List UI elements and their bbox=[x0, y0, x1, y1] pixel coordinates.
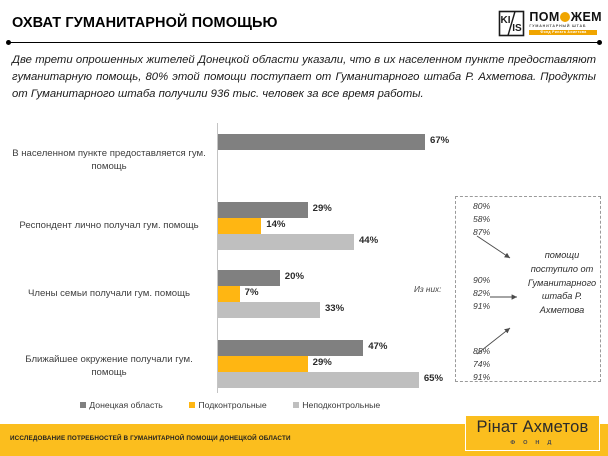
pomozhem-wordmark: ПОМ ЖЕМ ГУМАНИТАРНЫЙ ШТАБ Фонд Рината Ах… bbox=[529, 11, 602, 36]
chart-bar[interactable] bbox=[218, 134, 425, 150]
chart-category-label: Ближайшее окружение получали гум. помощь bbox=[8, 354, 210, 379]
legend-label: Донецкая область bbox=[89, 400, 163, 410]
chart-bar[interactable] bbox=[218, 202, 308, 218]
chart-bar-value: 20% bbox=[285, 271, 304, 282]
legend-label: Подконтрольные bbox=[198, 400, 266, 410]
svg-text:KI: KI bbox=[501, 15, 511, 26]
callout-number-group-3: 85%74%91% bbox=[473, 345, 490, 384]
lead-paragraph: Две трети опрошенных жителей Донецкой об… bbox=[12, 52, 596, 103]
legend-label: Неподконтрольные bbox=[302, 400, 380, 410]
callout-number: 85% bbox=[473, 345, 490, 358]
chart-category-label: Респондент лично получал гум. помощь bbox=[8, 220, 210, 233]
callout-number: 58% bbox=[473, 213, 490, 226]
chart-bar-row: 67% bbox=[218, 134, 598, 150]
legend-item[interactable]: Неподконтрольные bbox=[293, 400, 380, 410]
chart-legend: Донецкая областьПодконтрольныеНеподконтр… bbox=[0, 400, 460, 410]
callout-number: 74% bbox=[473, 358, 490, 371]
callout-number: 90% bbox=[473, 274, 490, 287]
chart-bar[interactable] bbox=[218, 234, 354, 250]
chart-bar-value: 65% bbox=[424, 373, 443, 384]
page-header: ОХВАТ ГУМАНИТАРНОЙ ПОМОЩЬЮ KI IS ПОМ ЖЕМ… bbox=[0, 0, 608, 43]
pomozhem-part2: ЖЕМ bbox=[571, 11, 602, 24]
page-title: ОХВАТ ГУМАНИТАРНОЙ ПОМОЩЬЮ bbox=[12, 15, 278, 31]
legend-item[interactable]: Донецкая область bbox=[80, 400, 163, 410]
callout-description: помощи поступило от Гуманитарного штаба … bbox=[520, 249, 604, 318]
foundation-name: Рінат Ахметов bbox=[466, 418, 599, 437]
svg-text:IS: IS bbox=[513, 23, 523, 34]
chart-bar-value: 29% bbox=[313, 203, 332, 214]
callout-number: 80% bbox=[473, 200, 490, 213]
gear-icon bbox=[560, 12, 570, 22]
legend-swatch-icon bbox=[293, 402, 299, 408]
pomozhem-word: ПОМ ЖЕМ bbox=[529, 11, 602, 24]
legend-swatch-icon bbox=[189, 402, 195, 408]
brand-logo: KI IS ПОМ ЖЕМ ГУМАНИТАРНЫЙ ШТАБ Фонд Рин… bbox=[498, 7, 602, 39]
callout-number-group-1: 80%58%87% bbox=[473, 200, 490, 239]
chart-bar[interactable] bbox=[218, 340, 363, 356]
callout-number-group-2: 90%82%91% bbox=[473, 274, 490, 313]
chart-category-label: В населенном пункте предоставляется гум.… bbox=[8, 148, 210, 173]
legend-swatch-icon bbox=[80, 402, 86, 408]
callout-prefix-label: Из них: bbox=[414, 285, 441, 294]
foundation-subtitle: Ф О Н Д bbox=[466, 440, 599, 446]
chart-bar[interactable] bbox=[218, 286, 240, 302]
legend-item[interactable]: Подконтрольные bbox=[189, 400, 267, 410]
kiis-cube-icon: KI IS bbox=[498, 10, 525, 37]
callout-number: 82% bbox=[473, 287, 490, 300]
chart-category-label: Члены семьи получали гум. помощь bbox=[8, 288, 210, 301]
chart-bar-value: 29% bbox=[313, 357, 332, 368]
page-footer: ИССЛЕДОВАНИЕ ПОТРЕБНОСТЕЙ В ГУМАНИТАРНОЙ… bbox=[0, 424, 608, 456]
chart-bar-value: 67% bbox=[430, 135, 449, 146]
callout-number: 91% bbox=[473, 300, 490, 313]
chart-bar-value: 14% bbox=[266, 219, 285, 230]
chart-bar[interactable] bbox=[218, 302, 320, 318]
chart-bar[interactable] bbox=[218, 218, 261, 234]
rinat-akhmetov-foundation-logo: Рінат Ахметов Ф О Н Д bbox=[465, 415, 600, 451]
callout-number: 87% bbox=[473, 226, 490, 239]
chart-bar[interactable] bbox=[218, 356, 308, 372]
chart-bar[interactable] bbox=[218, 372, 419, 388]
chart-bar-value: 7% bbox=[245, 287, 259, 298]
chart-bar[interactable] bbox=[218, 270, 280, 286]
header-divider bbox=[8, 42, 600, 43]
pomozhem-foundation: Фонд Рината Ахметова bbox=[529, 30, 597, 36]
pomozhem-subtitle: ГУМАНИТАРНЫЙ ШТАБ bbox=[529, 25, 586, 29]
chart-bar-value: 44% bbox=[359, 235, 378, 246]
footer-caption: ИССЛЕДОВАНИЕ ПОТРЕБНОСТЕЙ В ГУМАНИТАРНОЙ… bbox=[10, 435, 291, 442]
chart-bar-value: 47% bbox=[368, 341, 387, 352]
callout-number: 91% bbox=[473, 371, 490, 384]
pomozhem-part1: ПОМ bbox=[529, 11, 559, 24]
chart-bar-value: 33% bbox=[325, 303, 344, 314]
